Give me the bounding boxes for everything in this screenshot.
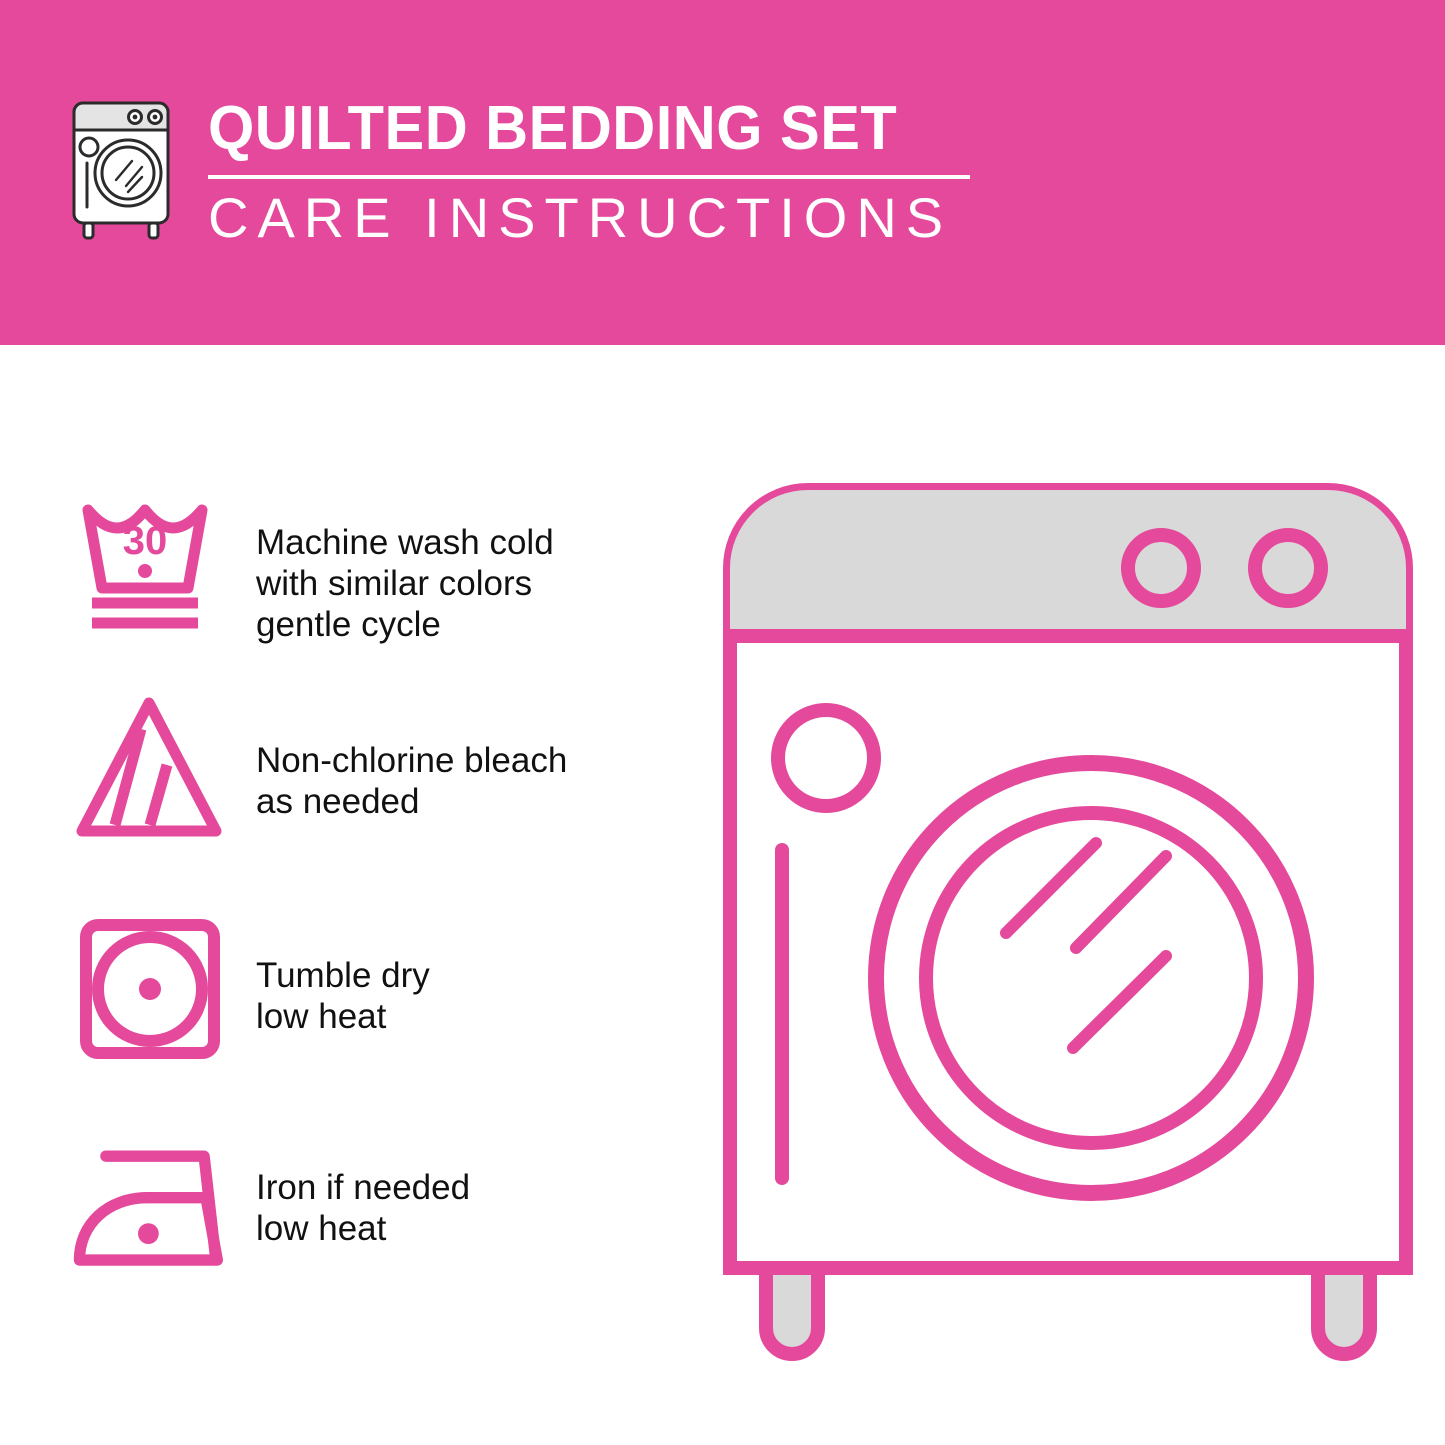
machine-knob-right [1255,535,1321,601]
care-row-machine-wash: 30 Machine wash cold with similar colors… [70,490,554,645]
header-text-block: QUILTED BEDDING SET CARE INSTRUCTIONS [208,95,970,247]
non-chlorine-bleach-icon [70,685,240,845]
care-row-bleach: Non-chlorine bleach as needed [70,685,567,845]
machine-indicator-dial [778,710,874,806]
care-text-iron: Iron if needed low heat [240,1135,470,1249]
page-title: QUILTED BEDDING SET [208,97,940,161]
page-header: QUILTED BEDDING SET CARE INSTRUCTIONS [0,0,1445,345]
washing-machine-icon [56,95,186,245]
page-subtitle: CARE INSTRUCTIONS [208,189,970,247]
wash-temperature-label: 30 [123,519,168,563]
care-text-machine-wash: Machine wash cold with similar colors ge… [240,490,554,645]
care-row-iron: Iron if needed low heat [70,1135,470,1285]
tumble-dry-low-icon [70,915,240,1065]
machine-leg-left [766,1268,818,1354]
title-divider [208,175,970,179]
machine-knob-left [1128,535,1194,601]
header-content: QUILTED BEDDING SET CARE INSTRUCTIONS [56,95,970,247]
care-row-tumble-dry: Tumble dry low heat [70,915,430,1065]
iron-low-heat-icon [70,1135,240,1285]
machine-door-inner [926,813,1256,1143]
machine-wash-30-icon: 30 [70,490,240,645]
front-load-washing-machine-illustration [718,478,1418,1378]
machine-leg-right [1318,1268,1370,1354]
care-text-tumble-dry: Tumble dry low heat [240,915,430,1037]
care-text-bleach: Non-chlorine bleach as needed [240,685,567,822]
